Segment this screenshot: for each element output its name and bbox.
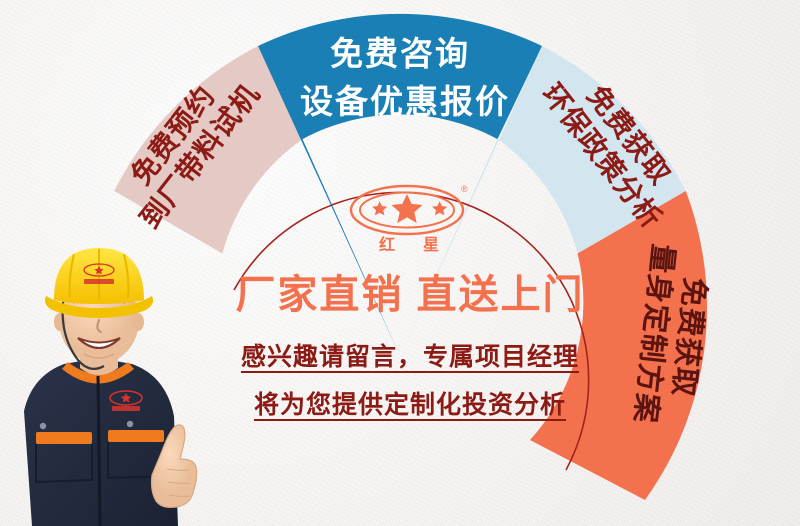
logo-char-1: 红 — [379, 235, 395, 254]
center-content: ® 红 星 厂家直销 直送上门 感兴趣请留言，专属项目经理 将为您提供定制化投资… — [180, 180, 640, 429]
segment-label-blue: 免费咨询 设备优惠报价 — [300, 30, 500, 126]
trademark-symbol: ® — [461, 184, 468, 194]
worker-uniform — [24, 358, 178, 526]
subline-2: 将为您提供定制化投资分析 — [180, 382, 640, 430]
worker-photo — [2, 236, 207, 526]
banner-root: 免费预约 到厂带料试机 免费咨询 设备优惠报价 免费获取 环保政策分析 免费获取… — [0, 0, 800, 526]
logo-char-2: 星 — [423, 235, 439, 254]
segment-blue-line1: 免费咨询 — [330, 35, 470, 72]
headline: 厂家直销 直送上门 — [180, 262, 640, 320]
segment-blue-line2: 设备优惠报价 — [300, 78, 500, 126]
subline-1: 感兴趣请留言，专属项目经理 — [180, 334, 640, 382]
hongxing-logo: ® 红 星 — [345, 180, 475, 256]
